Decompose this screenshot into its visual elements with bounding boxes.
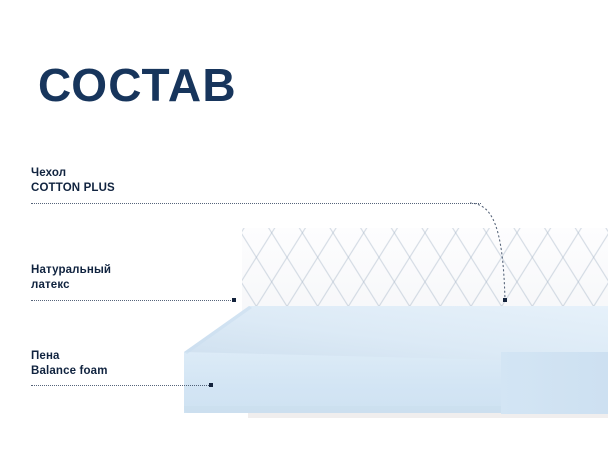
foam-front-face <box>184 352 501 413</box>
brand-name: DIMAX <box>550 367 568 372</box>
leader-line-cover <box>31 203 481 205</box>
label-latex-line1: Натуральный <box>31 264 111 276</box>
leader-endpoint-cover <box>503 298 507 302</box>
composition-infographic: СОСТАВ DIMAX THE MATTRESS <box>0 0 608 456</box>
label-foam-line2: Balance foam <box>31 364 108 379</box>
label-cover: Чехол COTTON PLUS <box>31 166 115 195</box>
cover-quilted-surface <box>242 228 608 357</box>
label-cover-line1: Чехол <box>31 167 66 179</box>
page-title: СОСТАВ <box>38 62 237 108</box>
leader-line-latex <box>31 300 231 302</box>
brand-subtitle: THE MATTRESS <box>546 373 571 376</box>
label-foam-line1: Пена <box>31 350 60 362</box>
brand-logo-badge: DIMAX THE MATTRESS <box>543 363 574 379</box>
label-cover-line2: COTTON PLUS <box>31 181 115 196</box>
label-latex-line2: латекс <box>31 278 111 293</box>
leader-line-foam <box>31 385 209 387</box>
leader-endpoint-foam <box>209 383 213 387</box>
label-latex: Натуральный латекс <box>31 263 111 292</box>
leader-endpoint-latex <box>232 298 236 302</box>
mattress-illustration: DIMAX THE MATTRESS <box>0 220 608 435</box>
label-foam: Пена Balance foam <box>31 349 108 378</box>
mattress-base-shadow <box>248 413 608 418</box>
